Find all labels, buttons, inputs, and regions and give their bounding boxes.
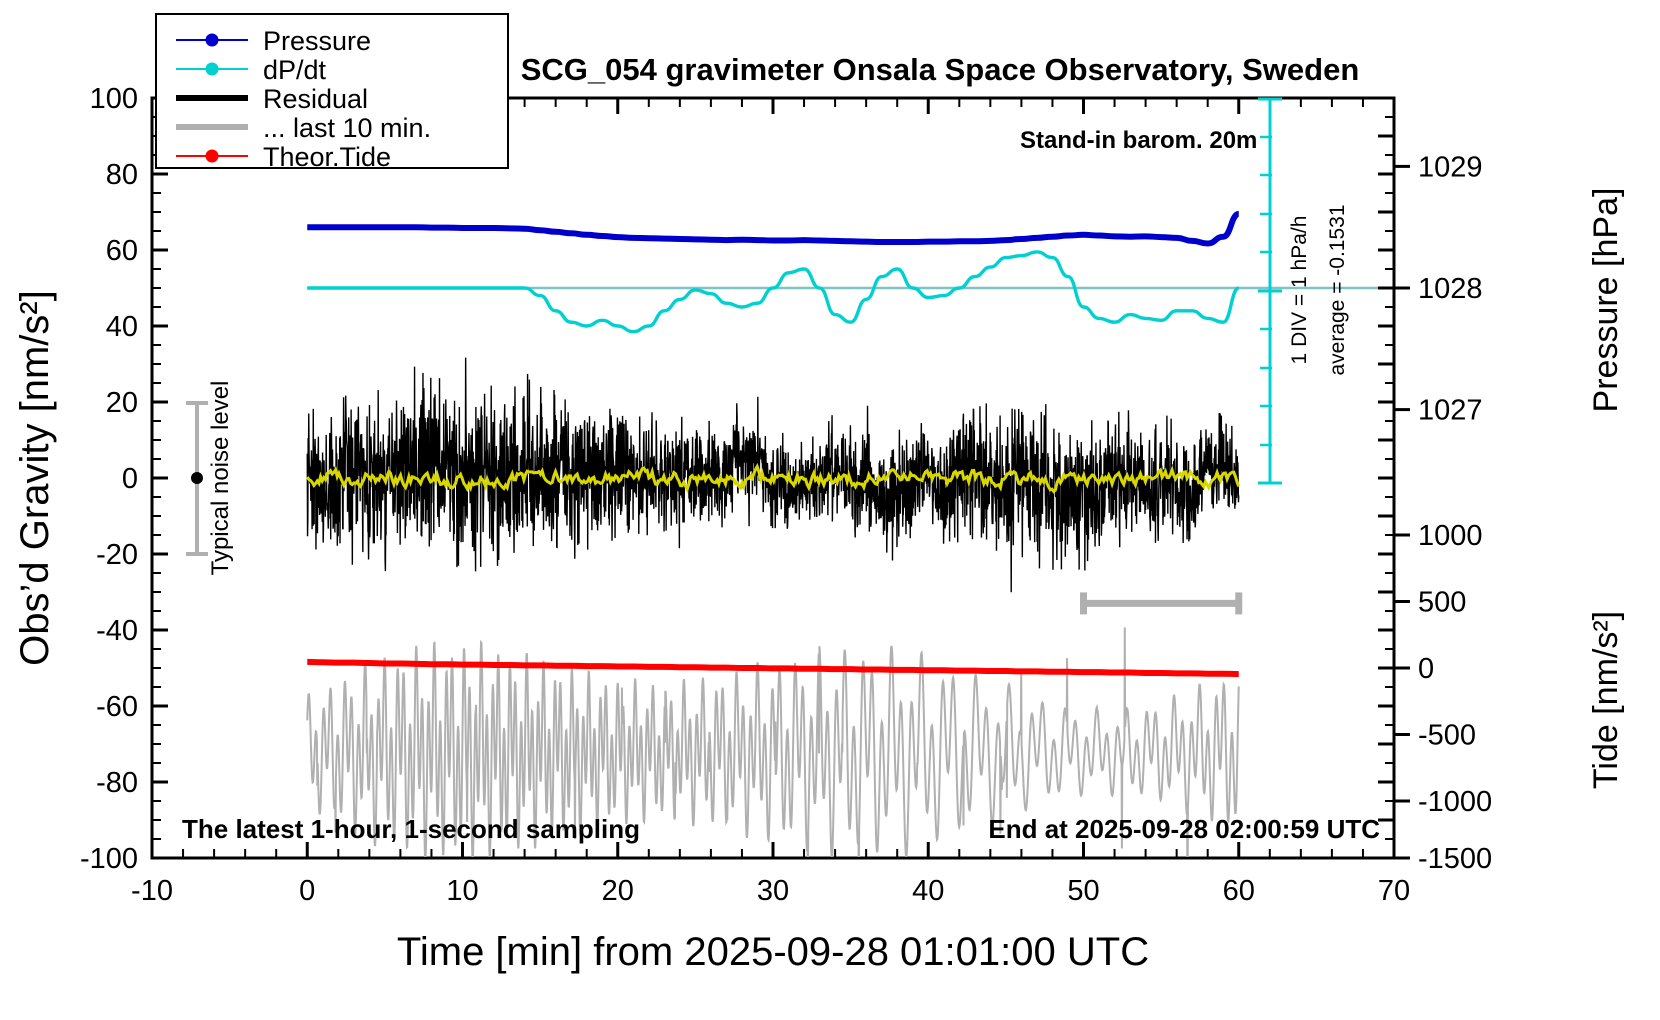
y-left-tick-label: -20 <box>96 539 138 571</box>
y-right-tide-tick-label: -1500 <box>1418 843 1492 875</box>
x-tick-label: 50 <box>1067 875 1099 907</box>
y-left-tick-label: 20 <box>106 387 138 419</box>
y-right-tide-tick-label: 500 <box>1418 587 1466 619</box>
y-right-pressure-tick-label: 1028 <box>1418 273 1483 305</box>
y-axis-right-pressure-title: Pressure [hPa] <box>1587 188 1625 413</box>
x-tick-label: 40 <box>912 875 944 907</box>
y-left-tick-label: 40 <box>106 311 138 343</box>
legend-item-label: Theor.Tide <box>263 142 391 172</box>
x-tick-label: 60 <box>1223 875 1255 907</box>
y-axis-left-title: Obs’d Gravity [nm/s²] <box>13 290 57 666</box>
x-tick-label: 10 <box>446 875 478 907</box>
page-title: SCG_054 gravimeter Onsala Space Observat… <box>521 52 1360 87</box>
y-left-tick-label: -80 <box>96 767 138 799</box>
x-tick-label: 30 <box>757 875 789 907</box>
y-right-pressure-tick-label: 1027 <box>1418 395 1483 427</box>
standin-barom-label: Stand-in barom. 20m <box>1020 127 1257 154</box>
legend[interactable]: PressuredP/dtResidual... last 10 min.The… <box>156 14 508 172</box>
legend-item-label: Residual <box>263 84 368 114</box>
y-left-tick-label: 100 <box>90 83 138 115</box>
legend-marker-dot <box>206 150 219 163</box>
y-right-tide-tick-label: -1000 <box>1418 786 1492 818</box>
y-right-tide-tick-label: -500 <box>1418 720 1476 752</box>
bottom-right-annotation: End at 2025-09-28 02:00:59 UTC <box>988 814 1380 844</box>
y-right-pressure-tick-label: 1029 <box>1418 151 1483 183</box>
dpdt-average-label: average = -0.1531 <box>1326 204 1349 375</box>
x-tick-label: 20 <box>602 875 634 907</box>
bottom-left-annotation: The latest 1-hour, 1-second sampling <box>182 814 640 844</box>
dpdt-div-label: 1 DIV = 1 hPa/h <box>1288 216 1311 365</box>
x-tick-label: 70 <box>1378 875 1410 907</box>
legend-item-label: dP/dt <box>263 55 327 85</box>
gravimeter-plot: -10010203040506070 -100-80-60-40-2002040… <box>0 0 1660 1020</box>
legend-marker-dot <box>206 34 219 47</box>
y-left-tick-label: 0 <box>122 463 138 495</box>
y-right-tide-tick-label: 1000 <box>1418 520 1483 552</box>
y-left-tick-label: 60 <box>106 235 138 267</box>
x-tick-label: -10 <box>131 875 173 907</box>
legend-item-label: Pressure <box>263 26 371 56</box>
x-axis-title: Time [min] from 2025-09-28 01:01:00 UTC <box>397 930 1149 974</box>
x-tick-label: 0 <box>299 875 315 907</box>
legend-item-label: ... last 10 min. <box>263 113 431 143</box>
y-axis-right-tide-title: Tide [nm/s²] <box>1587 611 1625 789</box>
typical-noise-label: Typical noise level <box>207 381 234 576</box>
y-left-tick-label: -100 <box>80 843 138 875</box>
chart-root: -10010203040506070 -100-80-60-40-2002040… <box>0 0 1660 1020</box>
y-right-tide-tick-label: 0 <box>1418 653 1434 685</box>
y-left-tick-label: -40 <box>96 615 138 647</box>
y-left-tick-label: 80 <box>106 159 138 191</box>
y-left-tick-label: -60 <box>96 691 138 723</box>
legend-marker-dot <box>206 63 219 76</box>
